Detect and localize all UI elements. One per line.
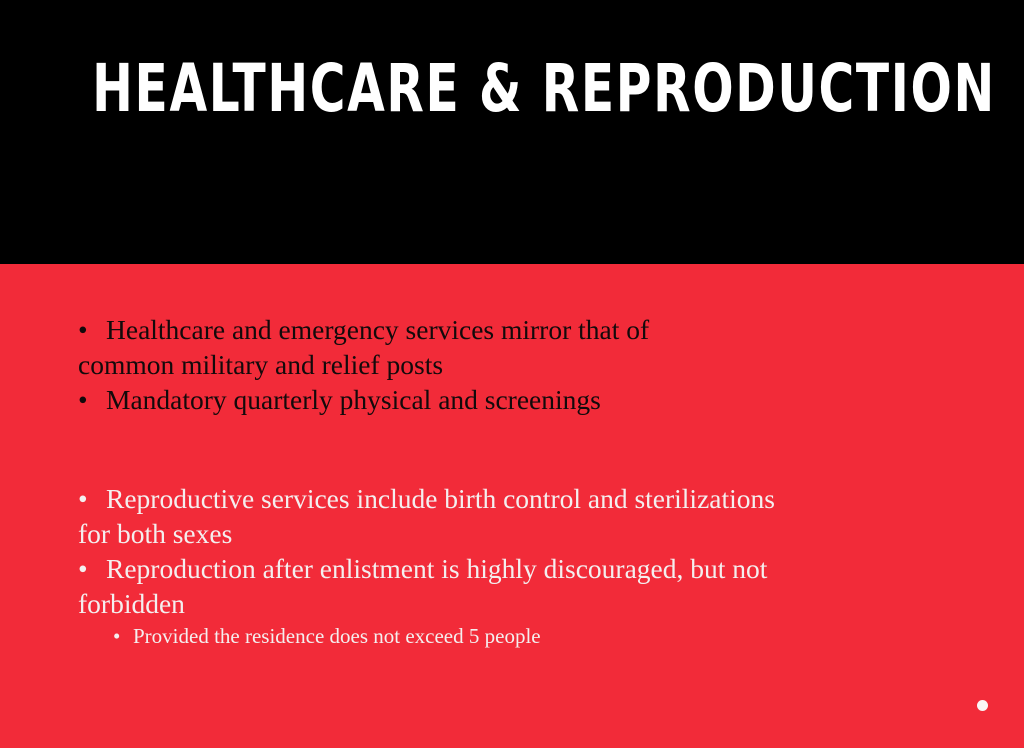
bullet-text: common military and relief posts — [78, 349, 443, 380]
bullet-block-secondary: •Reproductive services include birth con… — [78, 481, 978, 651]
bullet-dot-icon: • — [78, 551, 106, 586]
bullet-dot-icon: • — [78, 312, 106, 347]
block-spacer — [78, 417, 978, 481]
slide-title: Healthcare & Reproduction — [92, 52, 932, 126]
slide-progress-dot — [977, 700, 988, 711]
bullet-item-continuation: forbidden — [78, 586, 978, 621]
bullet-block-primary: •Healthcare and emergency services mirro… — [78, 312, 978, 417]
bullet-dot-icon: • — [78, 382, 106, 417]
bullet-item: •Reproduction after enlistment is highly… — [78, 551, 978, 586]
bullet-item-continuation: for both sexes — [78, 516, 978, 551]
bullet-text: for both sexes — [78, 518, 232, 549]
sub-bullet-item: •Provided the residence does not exceed … — [78, 621, 978, 651]
header-band — [0, 0, 1024, 264]
bullet-text: forbidden — [78, 588, 185, 619]
slide-body: •Healthcare and emergency services mirro… — [78, 312, 978, 651]
sub-bullet-dot-icon: • — [113, 621, 133, 651]
bullet-item: •Reproductive services include birth con… — [78, 481, 978, 516]
bullet-dot-icon: • — [78, 481, 106, 516]
bullet-text: Mandatory quarterly physical and screeni… — [106, 384, 601, 415]
bullet-text: Reproductive services include birth cont… — [106, 483, 775, 514]
slide-canvas: Healthcare & Reproduction •Healthcare an… — [0, 0, 1024, 748]
bullet-item: •Mandatory quarterly physical and screen… — [78, 382, 978, 417]
bullet-item: •Healthcare and emergency services mirro… — [78, 312, 978, 347]
sub-bullet-text: Provided the residence does not exceed 5… — [133, 624, 541, 648]
bullet-text: Reproduction after enlistment is highly … — [106, 553, 767, 584]
bullet-text: Healthcare and emergency services mirror… — [106, 314, 649, 345]
bullet-item-continuation: common military and relief posts — [78, 347, 978, 382]
